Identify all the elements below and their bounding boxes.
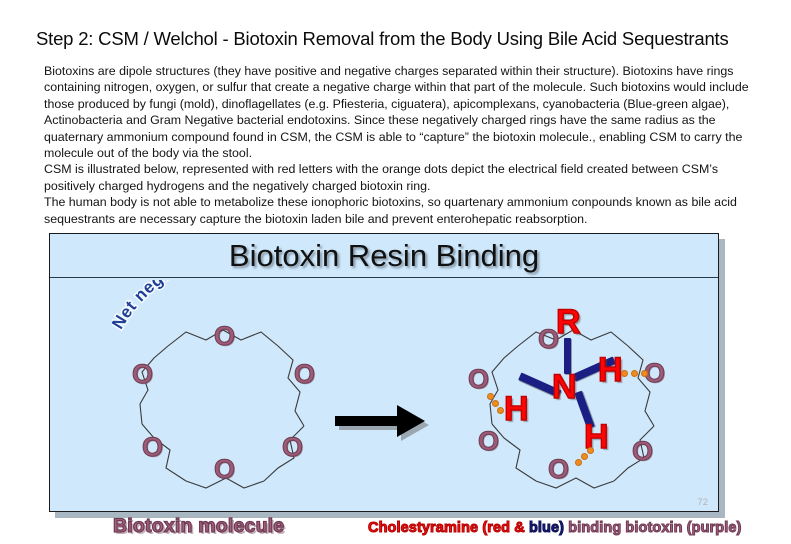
atom-label-h-right: H bbox=[598, 353, 623, 387]
caption-biotoxin-molecule: Biotoxin molecule bbox=[113, 515, 284, 538]
caption-red-part: Cholestyramine (red & bbox=[368, 520, 525, 536]
field-dot bbox=[622, 371, 627, 376]
body-paragraph-2: CSM is illustrated below, represented wi… bbox=[44, 161, 762, 194]
page-title: Step 2: CSM / Welchol - Biotoxin Removal… bbox=[36, 28, 766, 50]
page-number: 72 bbox=[697, 497, 708, 508]
atom-label-o: O bbox=[214, 456, 235, 483]
transformation-arrow bbox=[335, 405, 447, 445]
figure-title-bar: Biotoxin Resin Binding bbox=[50, 234, 718, 278]
caption-cholestyramine: Cholestyramine (red & blue) binding biot… bbox=[368, 520, 741, 536]
body-paragraph-1: Biotoxins are dipole structures (they ha… bbox=[44, 63, 762, 161]
figure-title: Biotoxin Resin Binding bbox=[229, 238, 539, 274]
field-dot bbox=[493, 401, 498, 406]
atom-label-o: O bbox=[132, 361, 153, 388]
atom-label-n: N bbox=[552, 370, 577, 404]
body-copy: Biotoxins are dipole structures (they ha… bbox=[44, 63, 762, 227]
atom-label-o: O bbox=[548, 456, 569, 483]
caption-blue-part: blue) bbox=[529, 520, 564, 536]
atom-label-o: O bbox=[282, 434, 303, 461]
atom-label-o: O bbox=[632, 438, 653, 465]
atom-label-o: O bbox=[478, 428, 499, 455]
field-dot bbox=[642, 371, 647, 376]
figure-panel: Biotoxin Resin Binding Net negatively ch… bbox=[49, 233, 719, 512]
atom-label-r: R bbox=[556, 305, 581, 339]
field-dot bbox=[498, 408, 503, 413]
body-paragraph-3: The human body is not able to metabolize… bbox=[44, 194, 762, 227]
field-dot bbox=[582, 454, 587, 459]
field-dot bbox=[632, 371, 637, 376]
atom-label-h-left: H bbox=[504, 392, 529, 426]
field-dot bbox=[576, 460, 581, 465]
atom-label-o: O bbox=[294, 361, 315, 388]
figure-body: Net negatively charged ring O O O O O O bbox=[50, 278, 718, 511]
biotoxin-molecule-left: O O O O O O bbox=[98, 316, 348, 496]
field-dot bbox=[588, 448, 593, 453]
field-dot bbox=[488, 394, 493, 399]
atom-label-o: O bbox=[644, 360, 665, 387]
caption-purple-part: binding biotoxin (purple) bbox=[568, 520, 741, 536]
atom-label-o: O bbox=[214, 323, 235, 350]
atom-label-o: O bbox=[468, 366, 489, 393]
atom-label-o: O bbox=[142, 434, 163, 461]
biotoxin-cholestyramine-complex: O O O O O O R N H H H bbox=[448, 308, 698, 498]
